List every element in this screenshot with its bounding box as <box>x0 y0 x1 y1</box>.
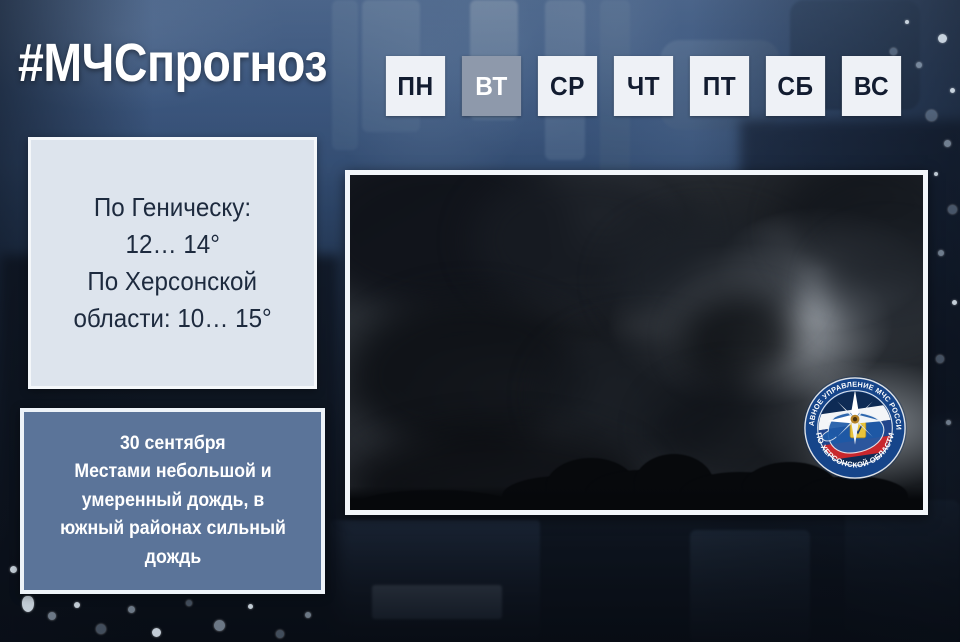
temperature-region-value: области: 10… 15° <box>73 300 271 337</box>
tab-tuesday[interactable]: ВТ <box>462 56 521 116</box>
water-droplet <box>128 606 135 613</box>
water-droplet <box>952 300 957 305</box>
forecast-text-line-2: умеренный дождь, в <box>38 487 308 516</box>
tab-monday[interactable]: ПН <box>386 56 445 116</box>
water-droplet <box>934 172 938 176</box>
water-droplet <box>276 630 284 638</box>
forecast-date: 30 сентября <box>120 430 226 459</box>
water-droplet <box>248 604 253 609</box>
water-droplet <box>48 612 56 620</box>
temperature-panel: По Геническу: 12… 14° По Херсонской обла… <box>28 137 317 389</box>
water-droplet <box>905 20 909 24</box>
water-droplet <box>938 250 944 256</box>
day-tabs: ПН ВТ СР ЧТ ПТ СБ ВС <box>384 56 903 116</box>
water-droplet <box>946 420 951 425</box>
water-droplet <box>186 600 192 606</box>
mchs-emblem-icon: ГЛАВНОЕ УПРАВЛЕНИЕ МЧС РОССИИ ПО ХЕРСОНС… <box>801 374 909 482</box>
temperature-city-value: 12… 14° <box>125 226 219 263</box>
tab-thursday[interactable]: ЧТ <box>614 56 673 116</box>
tree-horizon <box>350 486 923 510</box>
water-droplet <box>74 602 80 608</box>
tab-saturday[interactable]: СБ <box>766 56 825 116</box>
water-droplet <box>305 612 311 618</box>
water-droplet <box>10 566 17 573</box>
water-droplet <box>214 620 225 631</box>
forecast-text-line-1: Местами небольшой и <box>38 458 308 487</box>
water-droplet <box>916 62 922 68</box>
water-droplet <box>944 140 951 147</box>
water-droplet <box>948 205 957 214</box>
water-droplet <box>890 48 897 55</box>
tab-friday[interactable]: ПТ <box>690 56 749 116</box>
water-droplet <box>152 628 161 637</box>
forecast-text-line-4: дождь <box>38 544 308 573</box>
water-droplet <box>938 34 947 43</box>
weather-photo: ГЛАВНОЕ УПРАВЛЕНИЕ МЧС РОССИИ ПО ХЕРСОНС… <box>345 170 928 515</box>
tab-wednesday[interactable]: СР <box>538 56 597 116</box>
water-droplet <box>96 624 106 634</box>
water-droplet <box>926 110 937 121</box>
water-droplet <box>936 355 944 363</box>
temperature-region-label: По Херсонской <box>88 263 258 300</box>
water-droplet <box>22 596 34 612</box>
tab-sunday[interactable]: ВС <box>842 56 901 116</box>
mchs-emblem: ГЛАВНОЕ УПРАВЛЕНИЕ МЧС РОССИИ ПО ХЕРСОНС… <box>801 374 909 482</box>
forecast-graphic: #МЧСпрогноз ПН ВТ СР ЧТ ПТ СБ ВС По Гени… <box>0 0 960 642</box>
forecast-panel: 30 сентября Местами небольшой и умеренны… <box>20 408 325 594</box>
storm-cloud <box>680 295 800 385</box>
forecast-text-line-3: южный районах сильный <box>38 515 308 544</box>
page-title: #МЧСпрогноз <box>18 36 327 90</box>
temperature-city-label: По Геническу: <box>94 189 251 226</box>
water-droplet <box>950 88 955 93</box>
